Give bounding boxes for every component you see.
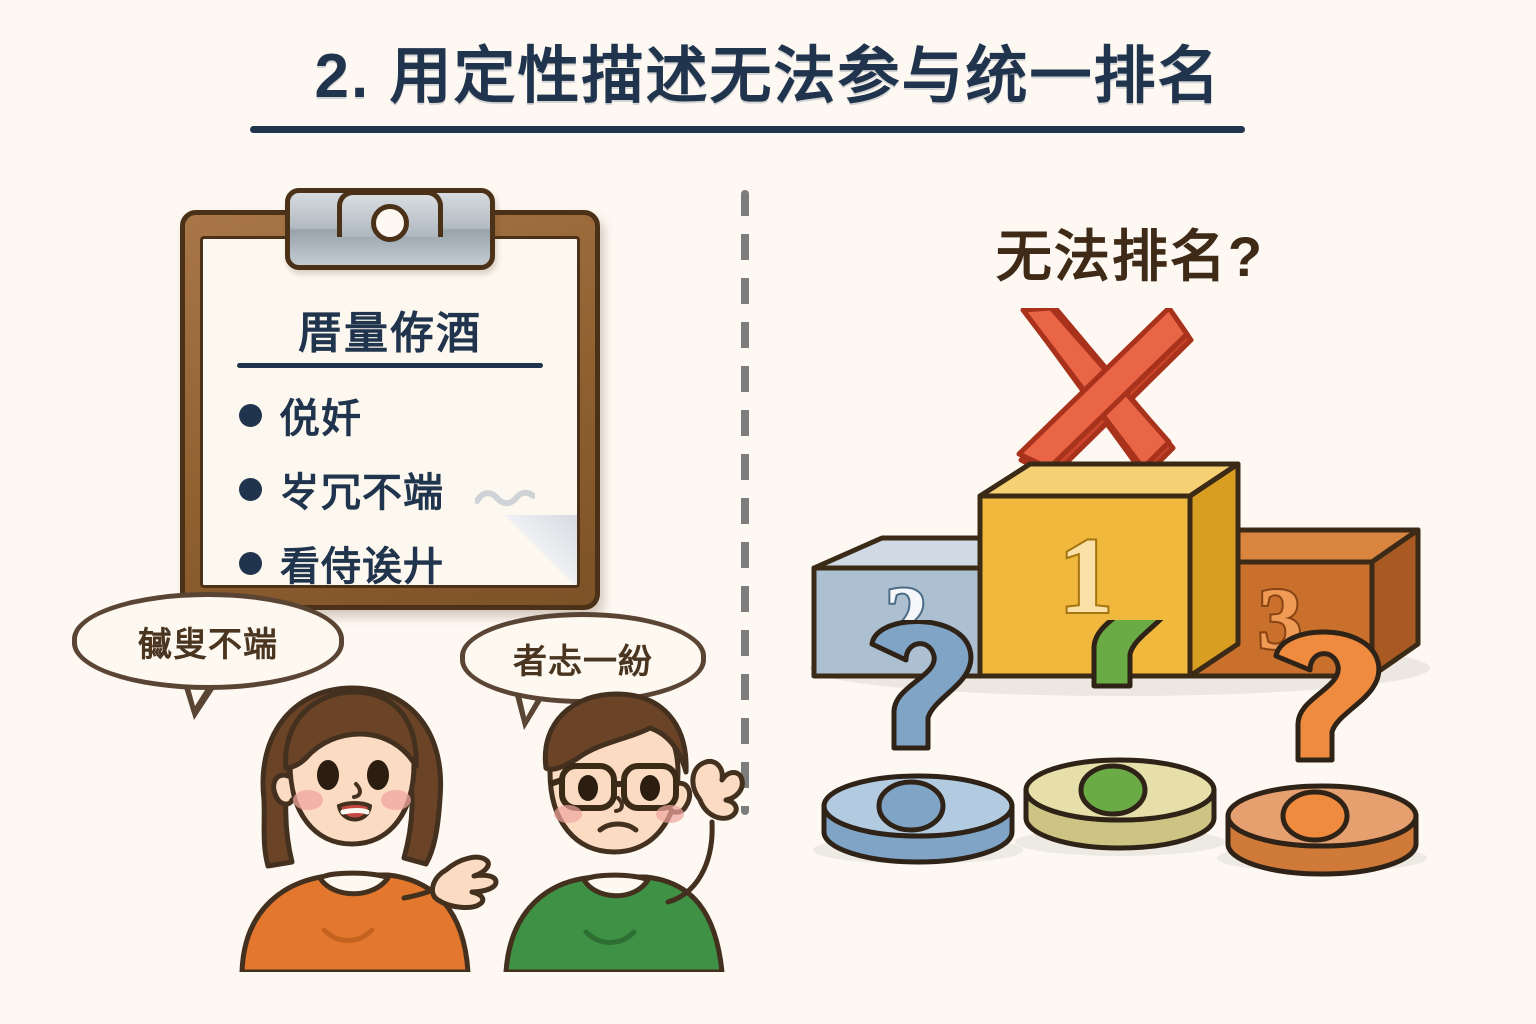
bullet-icon: [239, 404, 262, 427]
paper-curled-corner: [487, 515, 579, 587]
clipboard-clip-hole-icon: [371, 204, 409, 242]
person-man: [500, 680, 760, 972]
clipboard: 厝量侟酒 侻奷 㞮冗不端 看侍诶廾: [180, 210, 600, 610]
right-speech-bubble-text: 者忐一紛: [513, 634, 653, 683]
clipboard-heading-rule: [237, 363, 543, 368]
title-underline: [250, 126, 1245, 133]
list-item: 侻奷: [239, 387, 559, 443]
list-item-label: 㞮冗不端: [280, 460, 444, 518]
right-panel-heading: 无法排名?: [960, 212, 1300, 293]
bullet-icon: [239, 552, 262, 575]
list-item-label: 侻奷: [280, 386, 362, 444]
illustration-canvas: 2. 用定性描述无法参与统一排名 厝量侟酒 侻奷 㞮冗不端 看侍诶廾: [0, 0, 1536, 1024]
list-item-label: 看侍诶廾: [280, 534, 444, 588]
page-title: 2. 用定性描述无法参与统一排名: [0, 44, 1536, 109]
left-speech-bubble-text: 㦽叟不端: [138, 617, 278, 666]
squiggle-icon: [475, 489, 535, 507]
page-title-container: 2. 用定性描述无法参与统一排名: [0, 44, 1536, 109]
podium-number-1: 1: [1059, 517, 1113, 636]
question-mark-orange: [1217, 632, 1427, 874]
bullet-icon: [239, 478, 262, 501]
question-mark-blue: [813, 621, 1023, 864]
clipboard-heading: 厝量侟酒: [203, 297, 577, 361]
question-mark-group: [810, 620, 1430, 880]
person-woman: [228, 672, 508, 972]
question-mark-green: [1015, 620, 1225, 856]
clipboard-paper: 厝量侟酒 侻奷 㞮冗不端 看侍诶廾: [200, 236, 580, 588]
